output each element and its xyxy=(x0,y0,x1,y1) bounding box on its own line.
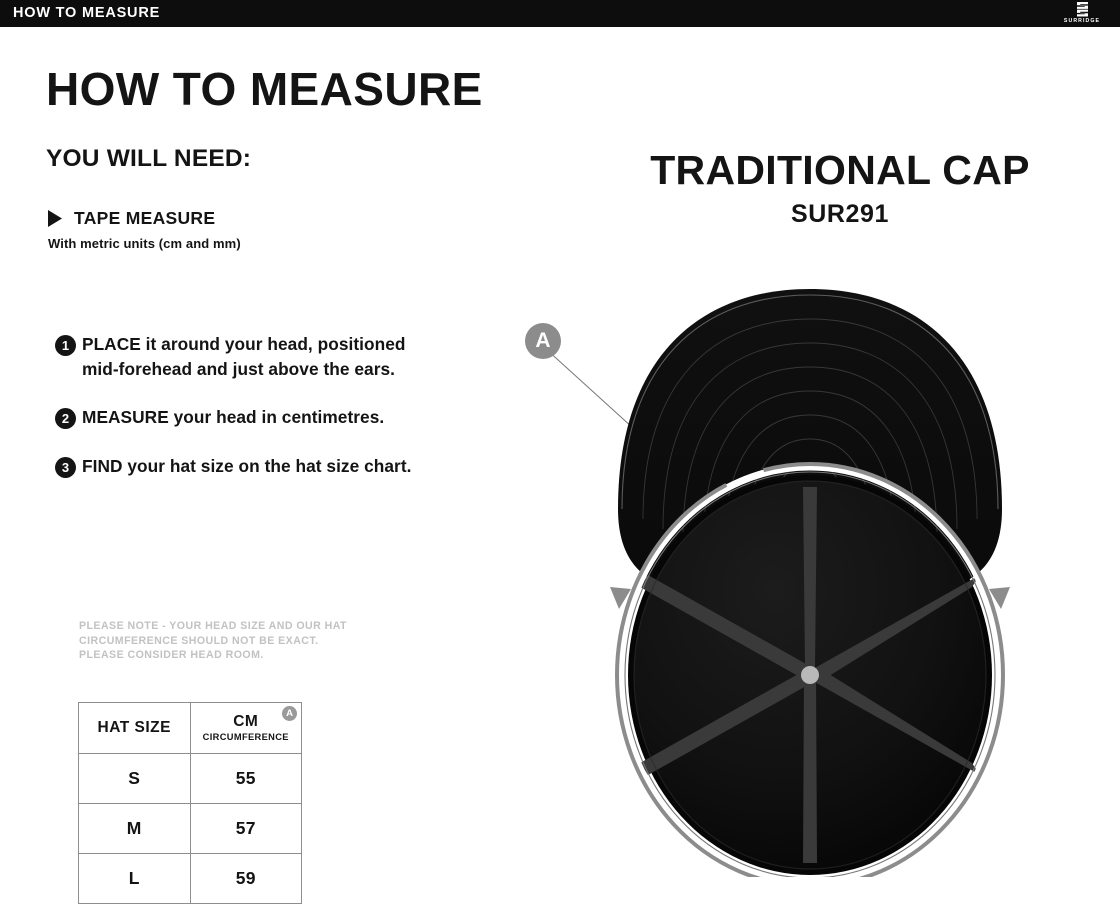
page-title: HOW TO MEASURE xyxy=(46,64,483,114)
table-cell-cm: 55 xyxy=(190,754,302,804)
table-row: S 55 xyxy=(79,754,302,804)
brand-logo: SURRIDGE xyxy=(1054,1,1110,26)
table-header-hat-size-label: HAT SIZE xyxy=(79,719,190,737)
step-number-badge: 1 xyxy=(55,335,76,356)
product-code: SUR291 xyxy=(560,200,1120,228)
table-header-cm: CM CIRCUMFERENCE A xyxy=(190,703,302,754)
callout-badge-a: A xyxy=(525,323,561,359)
cap-crown xyxy=(628,475,992,875)
table-cell-size-value: M xyxy=(127,818,142,838)
table-header-hat-size: HAT SIZE xyxy=(79,703,191,754)
table-cell-size: L xyxy=(79,854,191,904)
step-item: 3 FIND your hat size on the hat size cha… xyxy=(55,454,455,479)
measurement-badge-a: A xyxy=(282,706,297,721)
table-row: L 59 xyxy=(79,854,302,904)
table-cell-cm-value: 55 xyxy=(236,768,256,788)
table-cell-size: M xyxy=(79,804,191,854)
triangle-bullet-icon xyxy=(47,209,63,228)
hat-size-table: HAT SIZE CM CIRCUMFERENCE A S 55 M 57 L … xyxy=(78,702,302,904)
top-bar-title: HOW TO MEASURE xyxy=(13,6,160,21)
table-row: M 57 xyxy=(79,804,302,854)
steps-list: 1 PLACE it around your head, positioned … xyxy=(55,332,455,502)
left-column: HOW TO MEASURE YOU WILL NEED: TAPE MEASU… xyxy=(0,27,560,883)
traditional-cap-top-view-icon xyxy=(500,257,1120,877)
table-cell-cm-value: 57 xyxy=(236,818,256,838)
step-text: FIND your hat size on the hat size chart… xyxy=(82,454,412,479)
table-header-row: HAT SIZE CM CIRCUMFERENCE A xyxy=(79,703,302,754)
step-item: 1 PLACE it around your head, positioned … xyxy=(55,332,455,381)
surridge-s-logo-icon xyxy=(1075,1,1090,18)
step-item: 2 MEASURE your head in centimetres. xyxy=(55,405,455,430)
table-cell-cm: 59 xyxy=(190,854,302,904)
you-will-need-heading: YOU WILL NEED: xyxy=(46,145,251,173)
tool-sublabel: With metric units (cm and mm) xyxy=(48,236,241,252)
please-note-text: PLEASE NOTE - YOUR HEAD SIZE AND OUR HAT… xyxy=(79,619,347,663)
table-cell-cm: 57 xyxy=(190,804,302,854)
step-number-badge: 3 xyxy=(55,457,76,478)
tool-label: TAPE MEASURE xyxy=(74,209,215,228)
traditional-cap-illustration xyxy=(500,257,1120,877)
table-cell-size-value: L xyxy=(129,868,140,888)
product-title: TRADITIONAL CAP xyxy=(560,147,1120,193)
step-text: MEASURE your head in centimetres. xyxy=(82,405,384,430)
step-number-badge: 2 xyxy=(55,408,76,429)
table-header-cm-sublabel: CIRCUMFERENCE xyxy=(191,732,302,743)
table-cell-size-value: S xyxy=(128,768,140,788)
crown-button-icon xyxy=(801,666,819,684)
table-cell-size: S xyxy=(79,754,191,804)
right-column: TRADITIONAL CAP SUR291 A xyxy=(560,27,1120,883)
table-cell-cm-value: 59 xyxy=(236,868,256,888)
brand-name: SURRIDGE xyxy=(1064,18,1100,24)
top-bar: HOW TO MEASURE SURRIDGE xyxy=(0,0,1120,27)
step-text: PLACE it around your head, positioned mi… xyxy=(82,332,412,381)
tool-item-tape-measure: TAPE MEASURE xyxy=(47,209,215,228)
